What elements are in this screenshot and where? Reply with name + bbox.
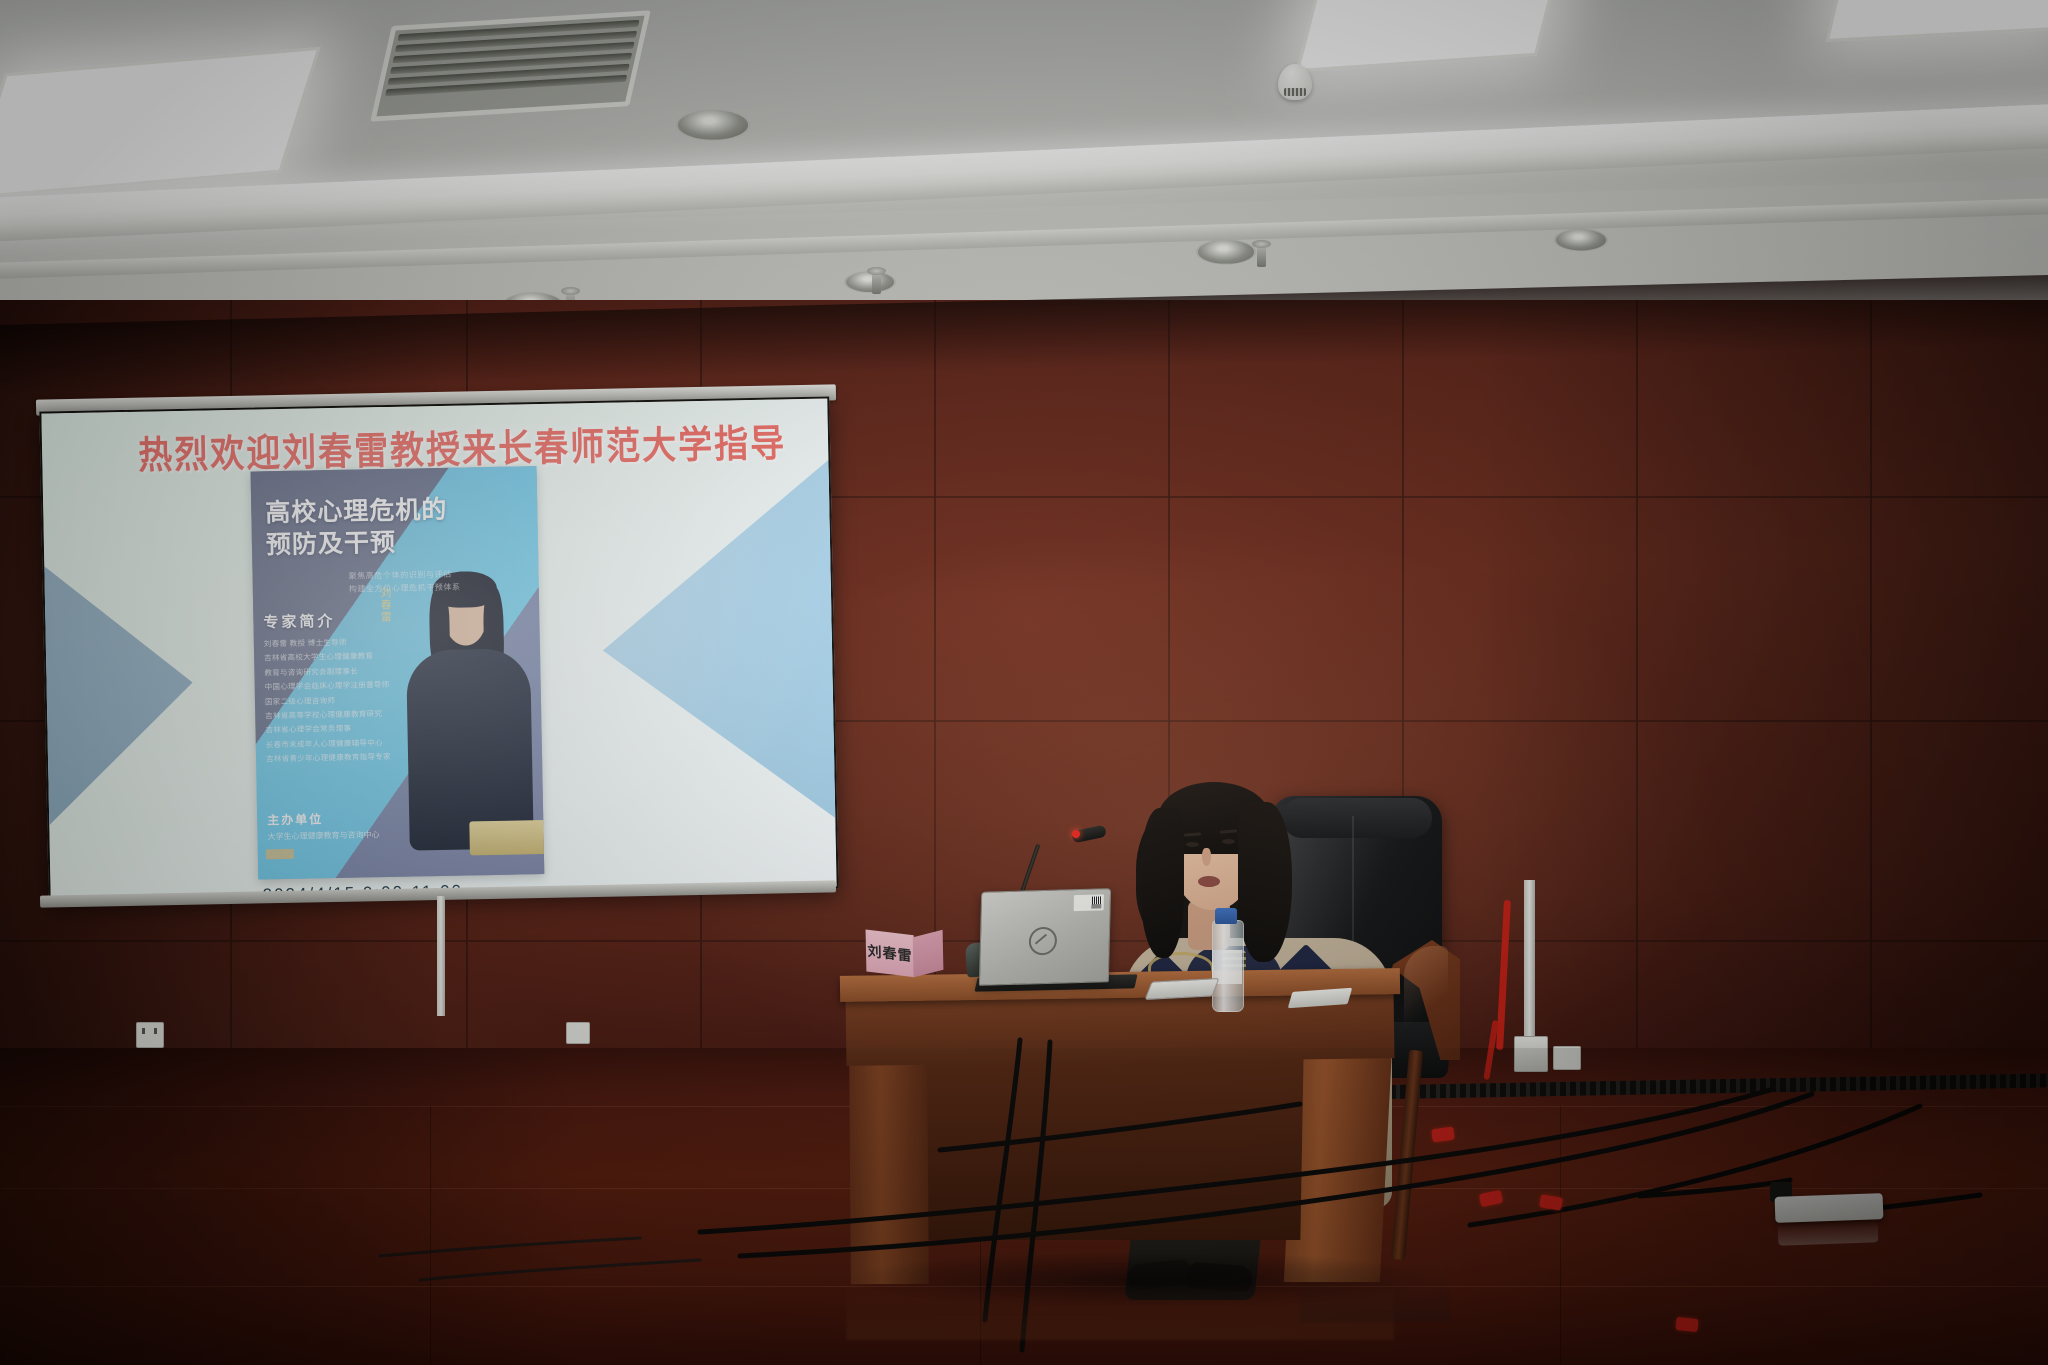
recessed-downlight-icon bbox=[1554, 229, 1608, 252]
microphone-indicator-led bbox=[1072, 830, 1080, 838]
placard-name-text: 刘春雷 bbox=[867, 941, 913, 966]
hair-left bbox=[1140, 808, 1184, 958]
bottle-cap[interactable] bbox=[1215, 908, 1237, 924]
sprinkler-head-icon bbox=[1257, 245, 1266, 267]
projector-glow bbox=[41, 399, 836, 902]
screen-support-pole bbox=[437, 896, 445, 1016]
nose bbox=[1202, 848, 1211, 866]
hvac-vent-icon bbox=[370, 10, 651, 121]
laptop-lid[interactable] bbox=[979, 888, 1111, 986]
name-placard: 刘春雷 bbox=[866, 927, 947, 975]
dell-logo-icon bbox=[1029, 927, 1058, 956]
placard-face: 刘春雷 bbox=[866, 929, 915, 977]
slide-background: 热烈欢迎刘春雷教授来长春师范大学指导 高校心理危机的 预防及干预 bbox=[41, 399, 836, 902]
lecture-room-photo: 热烈欢迎刘春雷教授来长春师范大学指导 高校心理危机的 预防及干预 bbox=[0, 0, 2048, 1365]
projection-screen: 热烈欢迎刘春雷教授来长春师范大学指导 高校心理危机的 预防及干预 bbox=[39, 396, 838, 903]
eye-left bbox=[1186, 842, 1199, 847]
placard-side bbox=[913, 930, 944, 978]
asset-tag-sticker bbox=[1074, 894, 1104, 911]
recessed-downlight-icon bbox=[676, 109, 750, 140]
mouth-speaking bbox=[1198, 876, 1220, 887]
sprinkler-head-icon bbox=[872, 272, 881, 294]
eye-right bbox=[1222, 839, 1235, 844]
recessed-downlight-icon bbox=[1196, 239, 1256, 264]
recessed-downlight-icon bbox=[844, 271, 896, 293]
floor-vignette bbox=[0, 1048, 2048, 1365]
hair-right bbox=[1238, 802, 1292, 962]
smoke-detector-icon bbox=[1278, 64, 1312, 100]
